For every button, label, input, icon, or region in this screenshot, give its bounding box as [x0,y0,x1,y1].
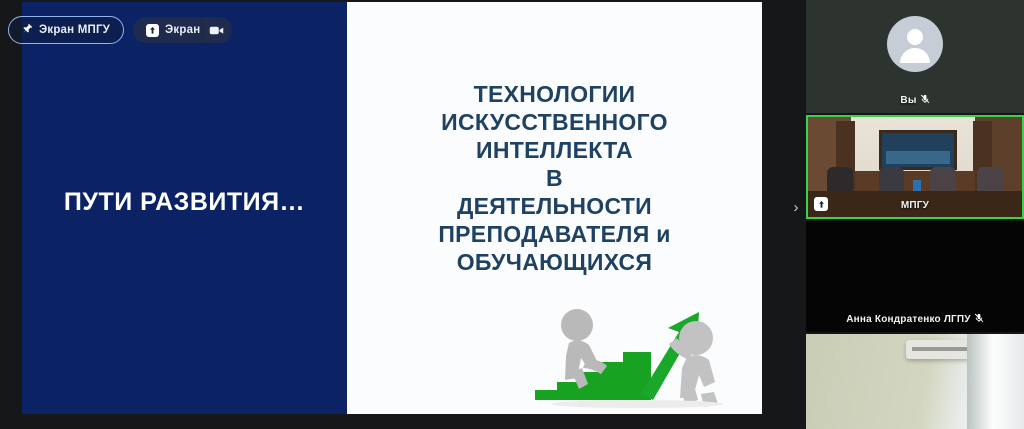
presentation-slide: ПУТИ РАЗВИТИЯ… ТЕХНОЛОГИИ ИСКУССТВЕННОГО… [22,2,762,414]
pinned-screen-pill-label: Экран МПГУ [39,24,110,36]
slide-title-line-4: В [347,164,762,192]
slide-title-line-6: ПРЕПОДАВАТЕЛЯ и [347,220,762,248]
participant-tile-anna[interactable]: Анна Кондратенко ЛГПУ [806,221,1024,332]
stairs-growth-illustration [529,298,744,408]
participant-tile-mpgu[interactable]: МПГУ [806,115,1024,219]
participant-tile-room-camera[interactable] [806,334,1024,429]
slide-left-text: ПУТИ РАЗВИТИЯ… [22,188,347,217]
participant-label-anna: Анна Кондратенко ЛГПУ [806,313,1024,326]
slide-title-line-1: ТЕХНОЛОГИИ [347,80,762,108]
avatar-head [907,29,923,45]
participant-label-mpgu: МПГУ [808,200,1022,211]
slide-right-panel: ТЕХНОЛОГИИ ИСКУССТВЕННОГО ИНТЕЛЛЕКТА В Д… [347,2,762,414]
mic-muted-icon [920,94,930,107]
shared-screen-stage: ПУТИ РАЗВИТИЯ… ТЕХНОЛОГИИ ИСКУССТВЕННОГО… [0,0,806,427]
participant-name-self: Вы [900,95,916,106]
slide-title: ТЕХНОЛОГИИ ИСКУССТВЕННОГО ИНТЕЛЛЕКТА В Д… [347,80,762,276]
video-camera-icon[interactable] [204,17,232,43]
participant-name-anna: Анна Кондратенко ЛГПУ [846,314,970,325]
avatar-body [900,48,930,63]
slide-title-line-2: ИСКУССТВЕННОГО [347,108,762,136]
slide-title-line-5: ДЕЯТЕЛЬНОСТИ [347,192,762,220]
stage-pill-toolbar: Экран МПГУ Экран [8,16,232,44]
screen-share-pill-group: Экран [133,17,232,43]
video-conference-window: ПУТИ РАЗВИТИЯ… ТЕХНОЛОГИИ ИСКУССТВЕННОГО… [0,0,1024,427]
participant-name-mpgu: МПГУ [901,200,929,211]
screen-share-pill[interactable]: Экран [133,17,213,43]
slide-left-panel: ПУТИ РАЗВИТИЯ… [22,2,347,414]
pin-icon [22,23,33,37]
mic-muted-icon [974,313,984,326]
participants-sidebar: Вы [806,0,1024,427]
pinned-screen-pill[interactable]: Экран МПГУ [8,16,124,44]
person-placeholder-avatar [887,16,943,72]
slide-title-line-3: ИНТЕЛЛЕКТА [347,136,762,164]
collapse-sidebar-chevron-icon[interactable]: › [789,196,803,220]
slide-title-line-7: ОБУЧАЮЩИХСЯ [347,248,762,276]
screen-share-pill-label: Экран [165,24,200,36]
screen-share-icon [146,24,159,37]
participant-label-self: Вы [806,94,1024,107]
participant-tile-self[interactable]: Вы [806,0,1024,113]
room-video [806,334,1024,429]
curtain [967,334,1024,429]
